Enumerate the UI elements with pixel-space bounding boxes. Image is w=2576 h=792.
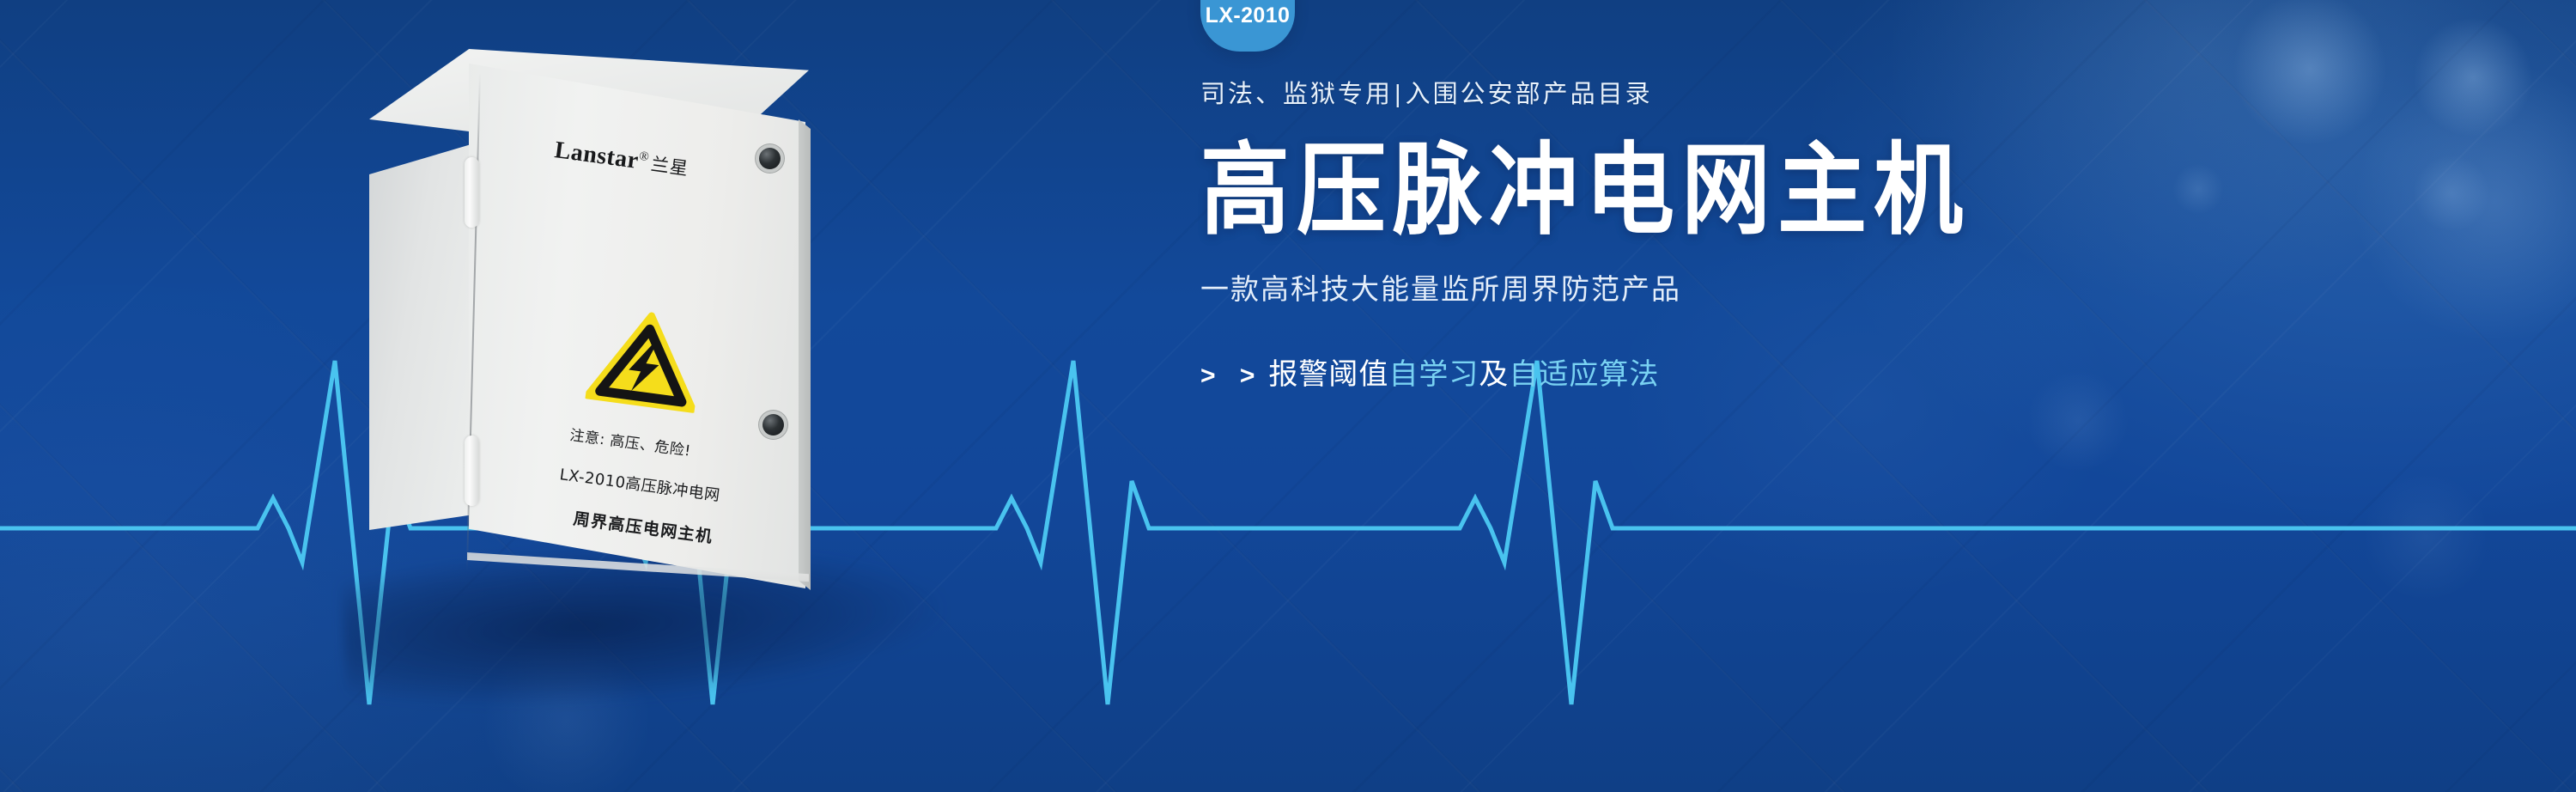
- chevron-right-icon: > >: [1200, 362, 1263, 390]
- hero-eyebrow: 司法、监狱专用|入围公安部产品目录: [1200, 82, 2471, 107]
- hero-feature-line: > >报警阈值自学习及自适应算法: [1200, 360, 2471, 389]
- cabinet-side-panel: [369, 143, 474, 530]
- product-image: Lanstar®兰星 注意: 高压、危险! LX-2010高压脉冲电网 周界高压…: [369, 47, 987, 726]
- cabinet-right-edge: [799, 119, 811, 590]
- eyebrow-right-text: 入围公安部产品目录: [1406, 81, 1653, 108]
- product-hero-banner: Lanstar®兰星 注意: 高压、危险! LX-2010高压脉冲电网 周界高压…: [0, 0, 2576, 792]
- eyebrow-divider: |: [1393, 81, 1406, 108]
- hero-copy: 司法、监狱专用|入围公安部产品目录 高压脉冲电网主机 一款高科技大能量监所周界防…: [1200, 82, 2471, 389]
- status-indicator-light-bottom: [762, 414, 784, 436]
- cabinet-hinge-bottom: [465, 436, 479, 506]
- hero-subtitle: 一款高科技大能量监所周界防范产品: [1200, 275, 2471, 303]
- feature-text-part1: 报警阈值: [1268, 358, 1388, 391]
- feature-highlight-self-learning: 自学习: [1388, 358, 1479, 391]
- page-title: 高压脉冲电网主机: [1200, 139, 2471, 241]
- bokeh-light-icon: [2361, 472, 2490, 601]
- status-indicator-light-top: [759, 148, 781, 169]
- registered-trademark-icon: ®: [638, 149, 650, 164]
- eyebrow-left-text: 司法、监狱专用: [1200, 81, 1393, 108]
- model-badge-label: LX-2010: [1206, 3, 1291, 28]
- cabinet-hinge-top: [465, 157, 479, 228]
- brand-name-cn: 兰星: [650, 154, 690, 180]
- feature-text-part2: 及: [1479, 358, 1509, 391]
- feature-highlight-adaptive-algorithm: 自适应算法: [1509, 358, 1659, 391]
- high-voltage-warning-icon: [585, 305, 707, 415]
